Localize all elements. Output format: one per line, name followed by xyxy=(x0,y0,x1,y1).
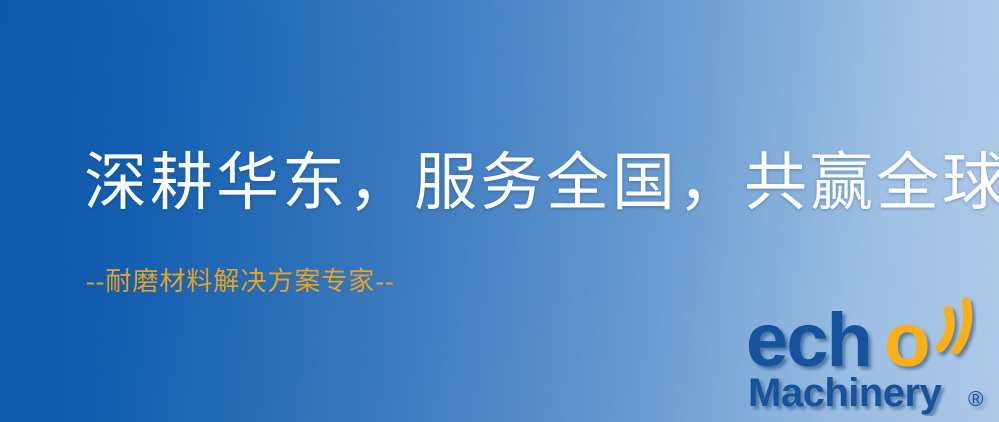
logo-registered-mark: ® xyxy=(968,388,984,411)
banner-subtitle: --耐磨材料解决方案专家-- xyxy=(86,266,395,297)
company-logo: echo Machinery ® ech o Machinery ® xyxy=(744,288,996,416)
logo-machinery-text: Machinery xyxy=(748,371,943,415)
page-title: 深耕华东，服务全国，共赢全球 xyxy=(84,148,999,219)
logo-graphic: ech o Machinery ® xyxy=(744,288,996,416)
promo-banner: 深耕华东，服务全国，共赢全球 --耐磨材料解决方案专家-- echo Machi… xyxy=(0,0,999,422)
signal-arcs-icon xyxy=(940,302,968,350)
